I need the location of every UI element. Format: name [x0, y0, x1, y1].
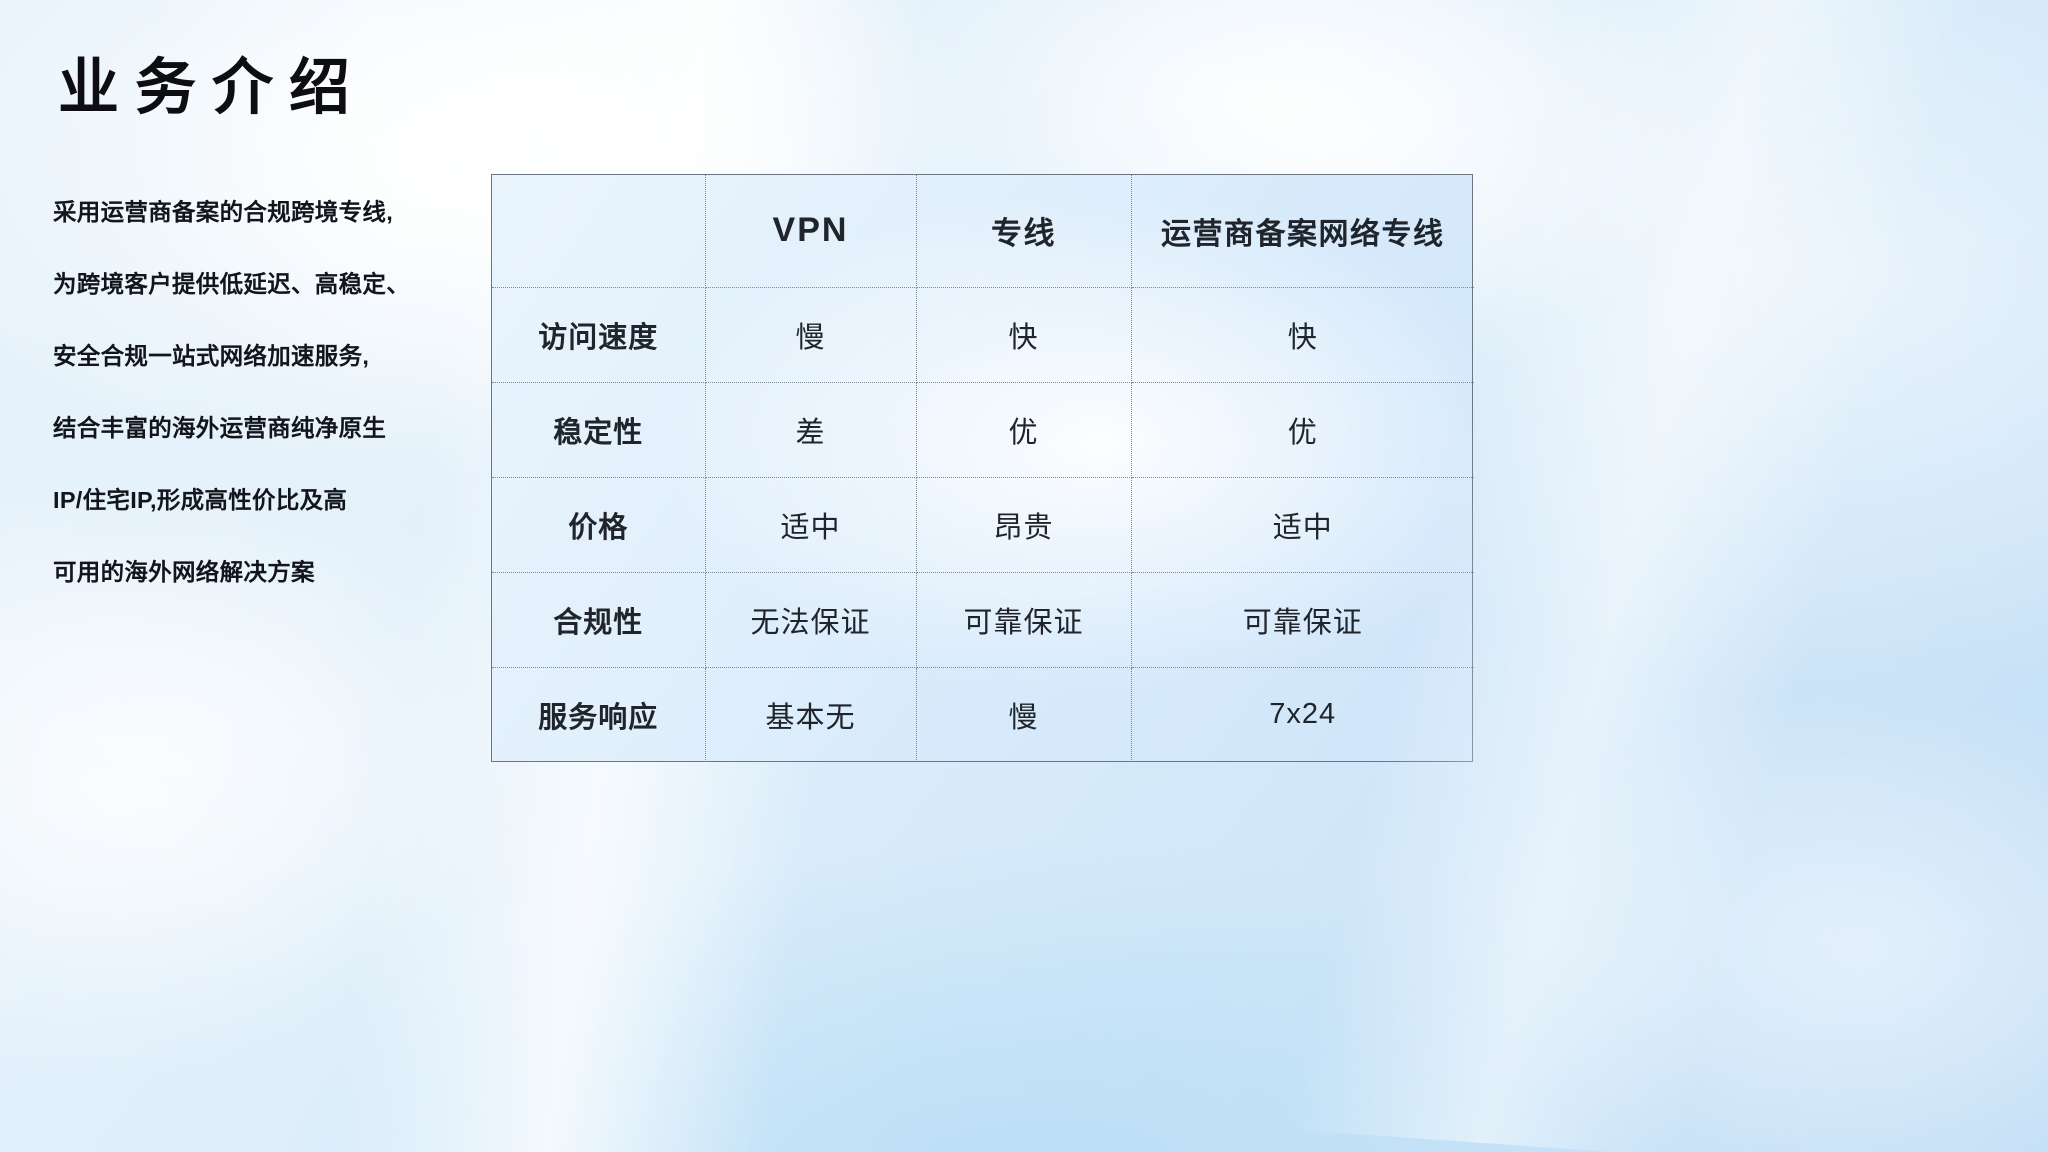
- cell-price-line: 昂贵: [916, 477, 1131, 572]
- table-row: 合规性 无法保证 可靠保证 可靠保证: [492, 572, 1474, 667]
- comparison-table-frame: VPN 专线 运营商备案网络专线 访问速度 慢 快 快 稳定性 差 优 优: [491, 174, 1473, 762]
- cell-stability-vpn: 差: [705, 382, 916, 477]
- comparison-table: VPN 专线 运营商备案网络专线 访问速度 慢 快 快 稳定性 差 优 优: [492, 175, 1474, 762]
- row-label-service-response: 服务响应: [492, 667, 705, 762]
- background-glow-bottom-right: [1480, 690, 2048, 1152]
- cell-service-response-dedicated: 7x24: [1131, 667, 1474, 762]
- cell-compliance-dedicated: 可靠保证: [1131, 572, 1474, 667]
- intro-paragraph: 采用运营商备案的合规跨境专线, 为跨境客户提供低延迟、高稳定、 安全合规一站式网…: [53, 176, 483, 608]
- table-header-row: VPN 专线 运营商备案网络专线: [492, 175, 1474, 287]
- cell-compliance-vpn: 无法保证: [705, 572, 916, 667]
- slide-canvas: 业务介绍 采用运营商备案的合规跨境专线, 为跨境客户提供低延迟、高稳定、 安全合…: [0, 0, 2048, 1152]
- cell-price-dedicated: 适中: [1131, 477, 1474, 572]
- intro-line-3: 安全合规一站式网络加速服务,: [53, 320, 483, 392]
- table-header-carrier-registered-line: 运营商备案网络专线: [1131, 175, 1474, 287]
- cell-compliance-line: 可靠保证: [916, 572, 1131, 667]
- row-label-stability: 稳定性: [492, 382, 705, 477]
- table-header-dedicated-line: 专线: [916, 175, 1131, 287]
- cell-service-response-line: 慢: [916, 667, 1131, 762]
- cell-access-speed-vpn: 慢: [705, 287, 916, 382]
- page-title: 业务介绍: [58, 52, 366, 122]
- cell-access-speed-dedicated: 快: [1131, 287, 1474, 382]
- cell-stability-line: 优: [916, 382, 1131, 477]
- row-label-compliance: 合规性: [492, 572, 705, 667]
- table-row: 价格 适中 昂贵 适中: [492, 477, 1474, 572]
- cell-price-vpn: 适中: [705, 477, 916, 572]
- row-label-access-speed: 访问速度: [492, 287, 705, 382]
- intro-line-4: 结合丰富的海外运营商纯净原生: [53, 392, 483, 464]
- intro-line-1: 采用运营商备案的合规跨境专线,: [53, 176, 483, 248]
- row-label-price: 价格: [492, 477, 705, 572]
- table-row: 访问速度 慢 快 快: [492, 287, 1474, 382]
- intro-line-2: 为跨境客户提供低延迟、高稳定、: [53, 248, 483, 320]
- table-header-blank: [492, 175, 705, 287]
- table-header-vpn: VPN: [705, 175, 916, 287]
- cell-access-speed-line: 快: [916, 287, 1131, 382]
- intro-line-5: IP/住宅IP,形成高性价比及高: [53, 464, 483, 536]
- table-row: 服务响应 基本无 慢 7x24: [492, 667, 1474, 762]
- table-row: 稳定性 差 优 优: [492, 382, 1474, 477]
- cell-stability-dedicated: 优: [1131, 382, 1474, 477]
- cell-service-response-vpn: 基本无: [705, 667, 916, 762]
- intro-line-6: 可用的海外网络解决方案: [53, 536, 483, 608]
